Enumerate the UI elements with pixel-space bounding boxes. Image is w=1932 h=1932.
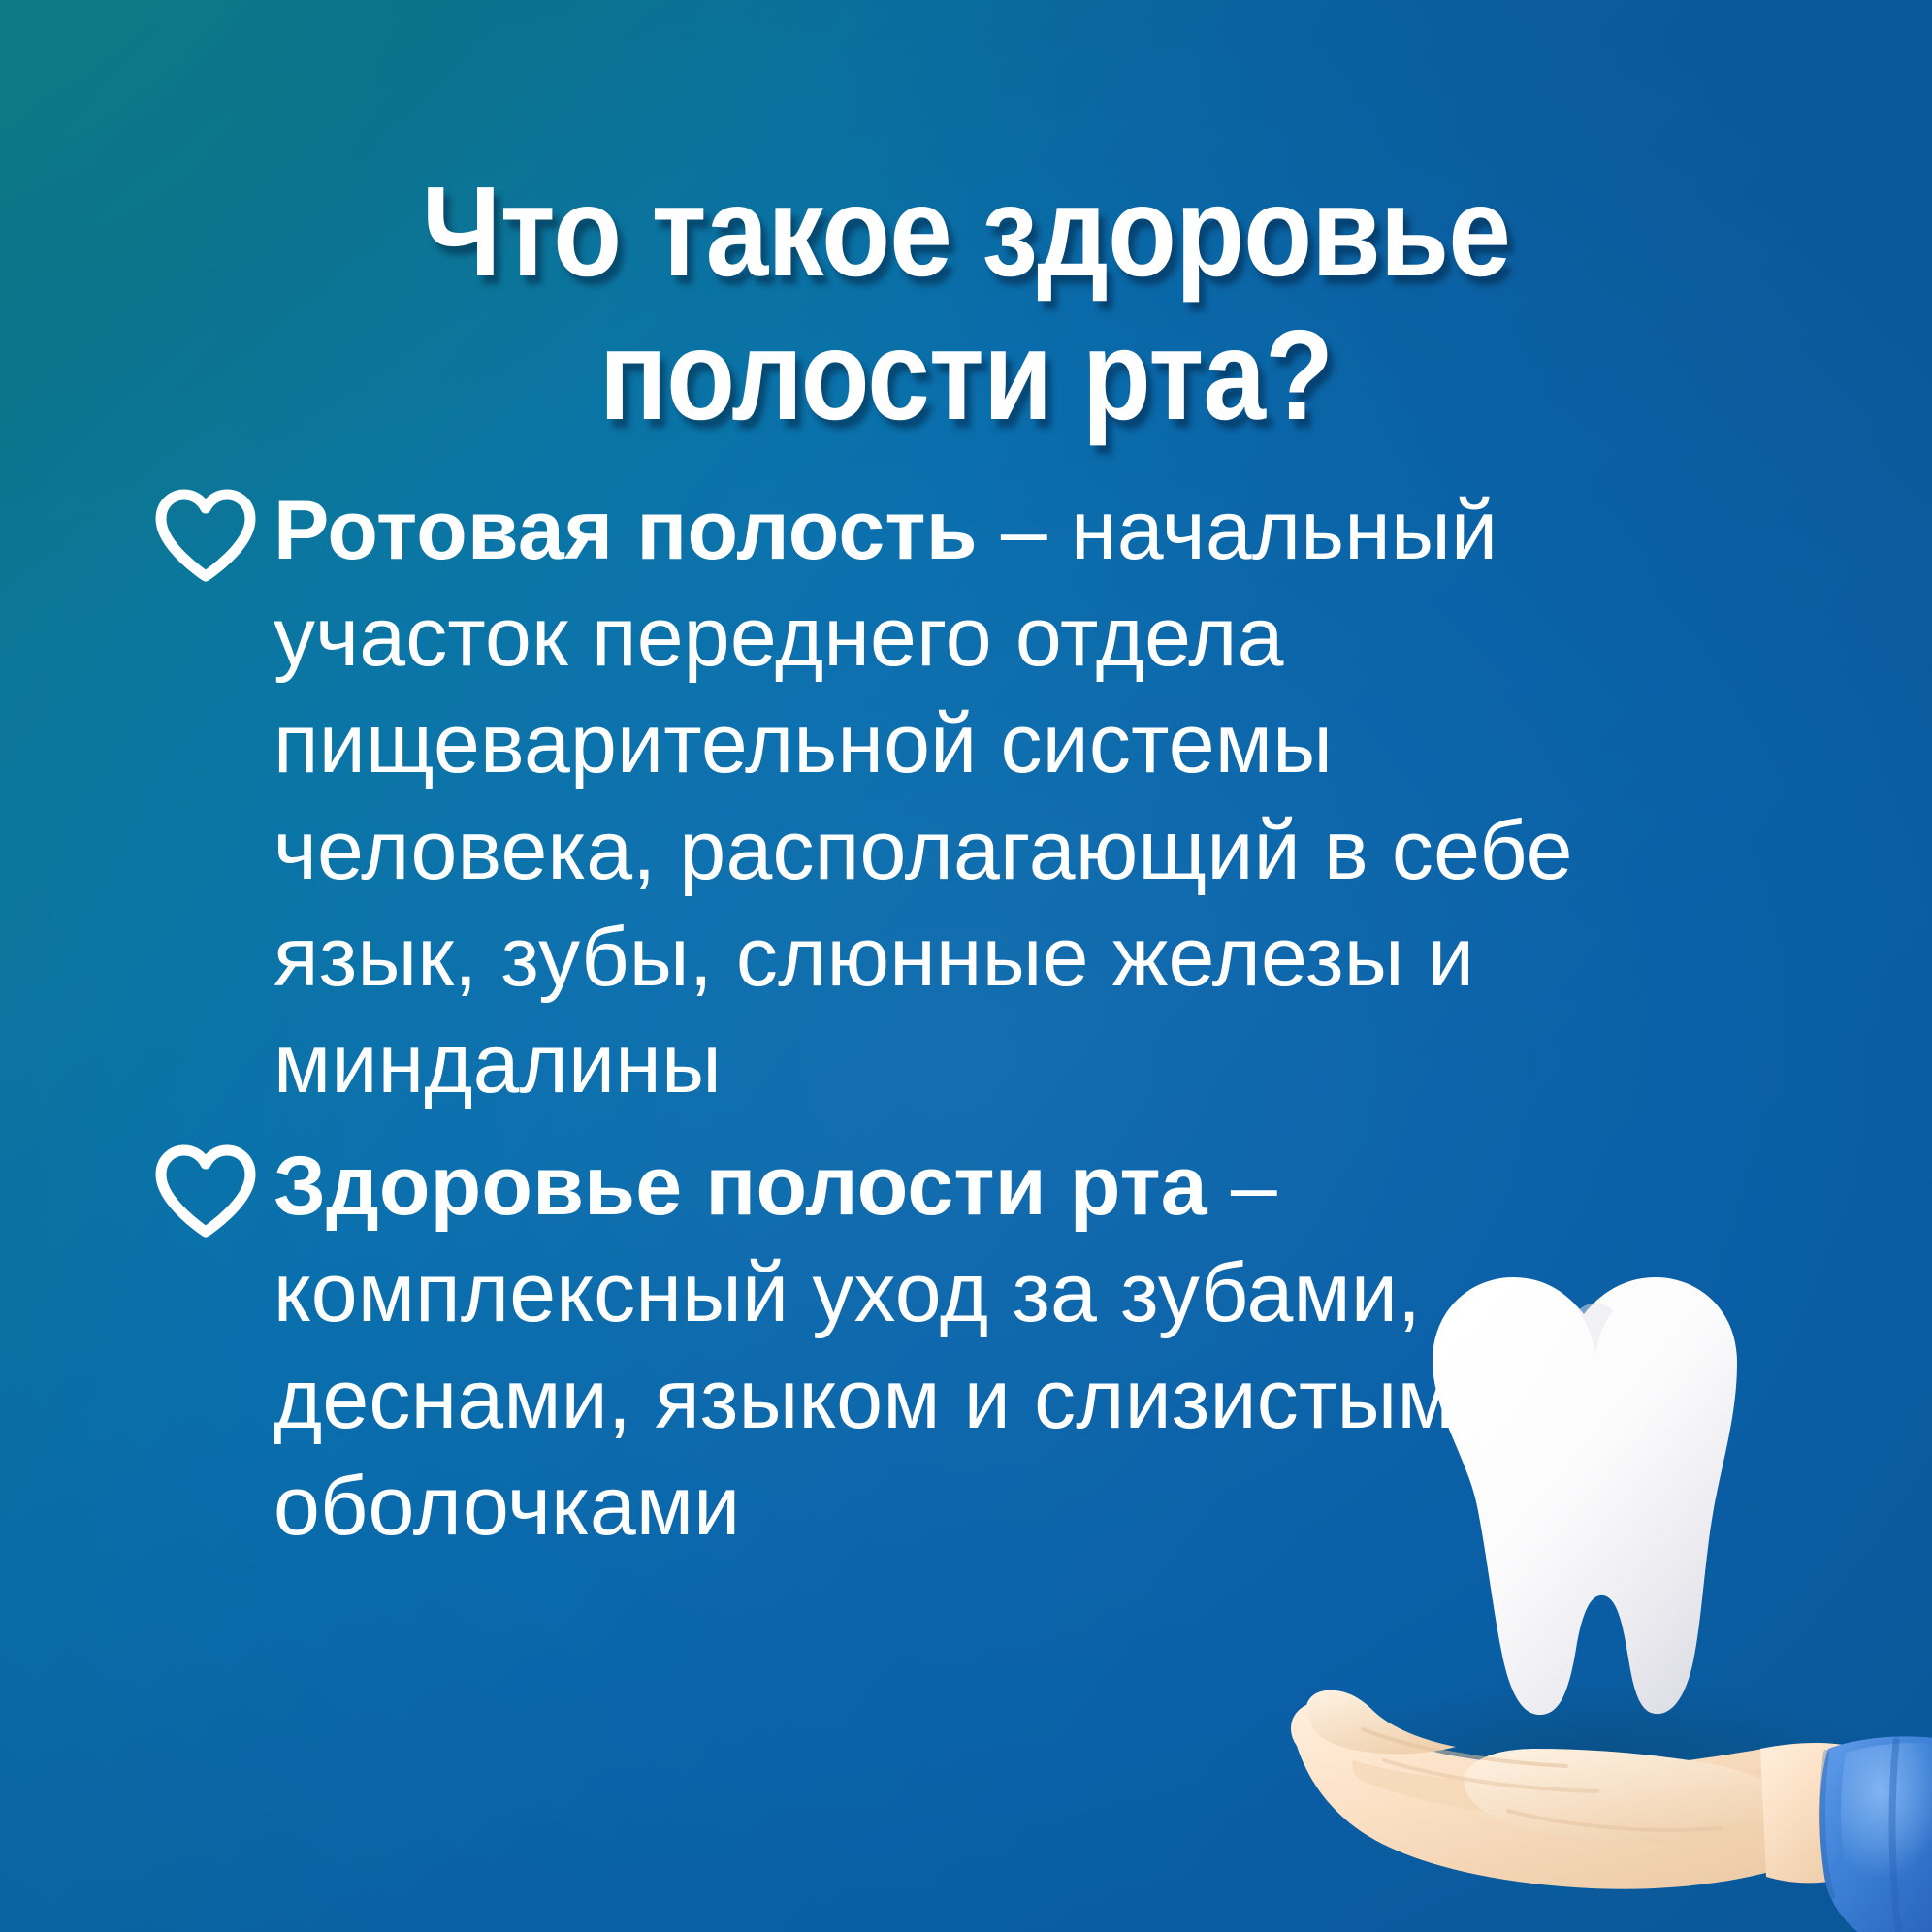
blue-sleeve bbox=[1819, 1736, 1932, 1932]
title-line-2: полости рта? bbox=[116, 304, 1817, 447]
poster-root: Что такое здоровье полости рта? Ротовая … bbox=[0, 0, 1932, 1932]
list-item-lead: Здоровье полости рта bbox=[274, 1140, 1207, 1233]
list-item-rest: – начальный участок переднего отдела пищ… bbox=[274, 484, 1573, 1111]
hand-holding-tooth-illustration bbox=[1217, 1217, 1932, 1932]
tooth bbox=[1433, 1277, 1737, 1715]
heart-outline-icon bbox=[153, 487, 258, 584]
list-item: Ротовая полость – начальный участок пере… bbox=[145, 477, 1736, 1117]
title-line-1: Что такое здоровье bbox=[116, 160, 1817, 304]
list-item-text: Ротовая полость – начальный участок пере… bbox=[274, 477, 1736, 1117]
heart-outline-icon bbox=[153, 1143, 258, 1240]
list-item-lead: Ротовая полость bbox=[274, 484, 978, 577]
page-title: Что такое здоровье полости рта? bbox=[0, 160, 1932, 447]
